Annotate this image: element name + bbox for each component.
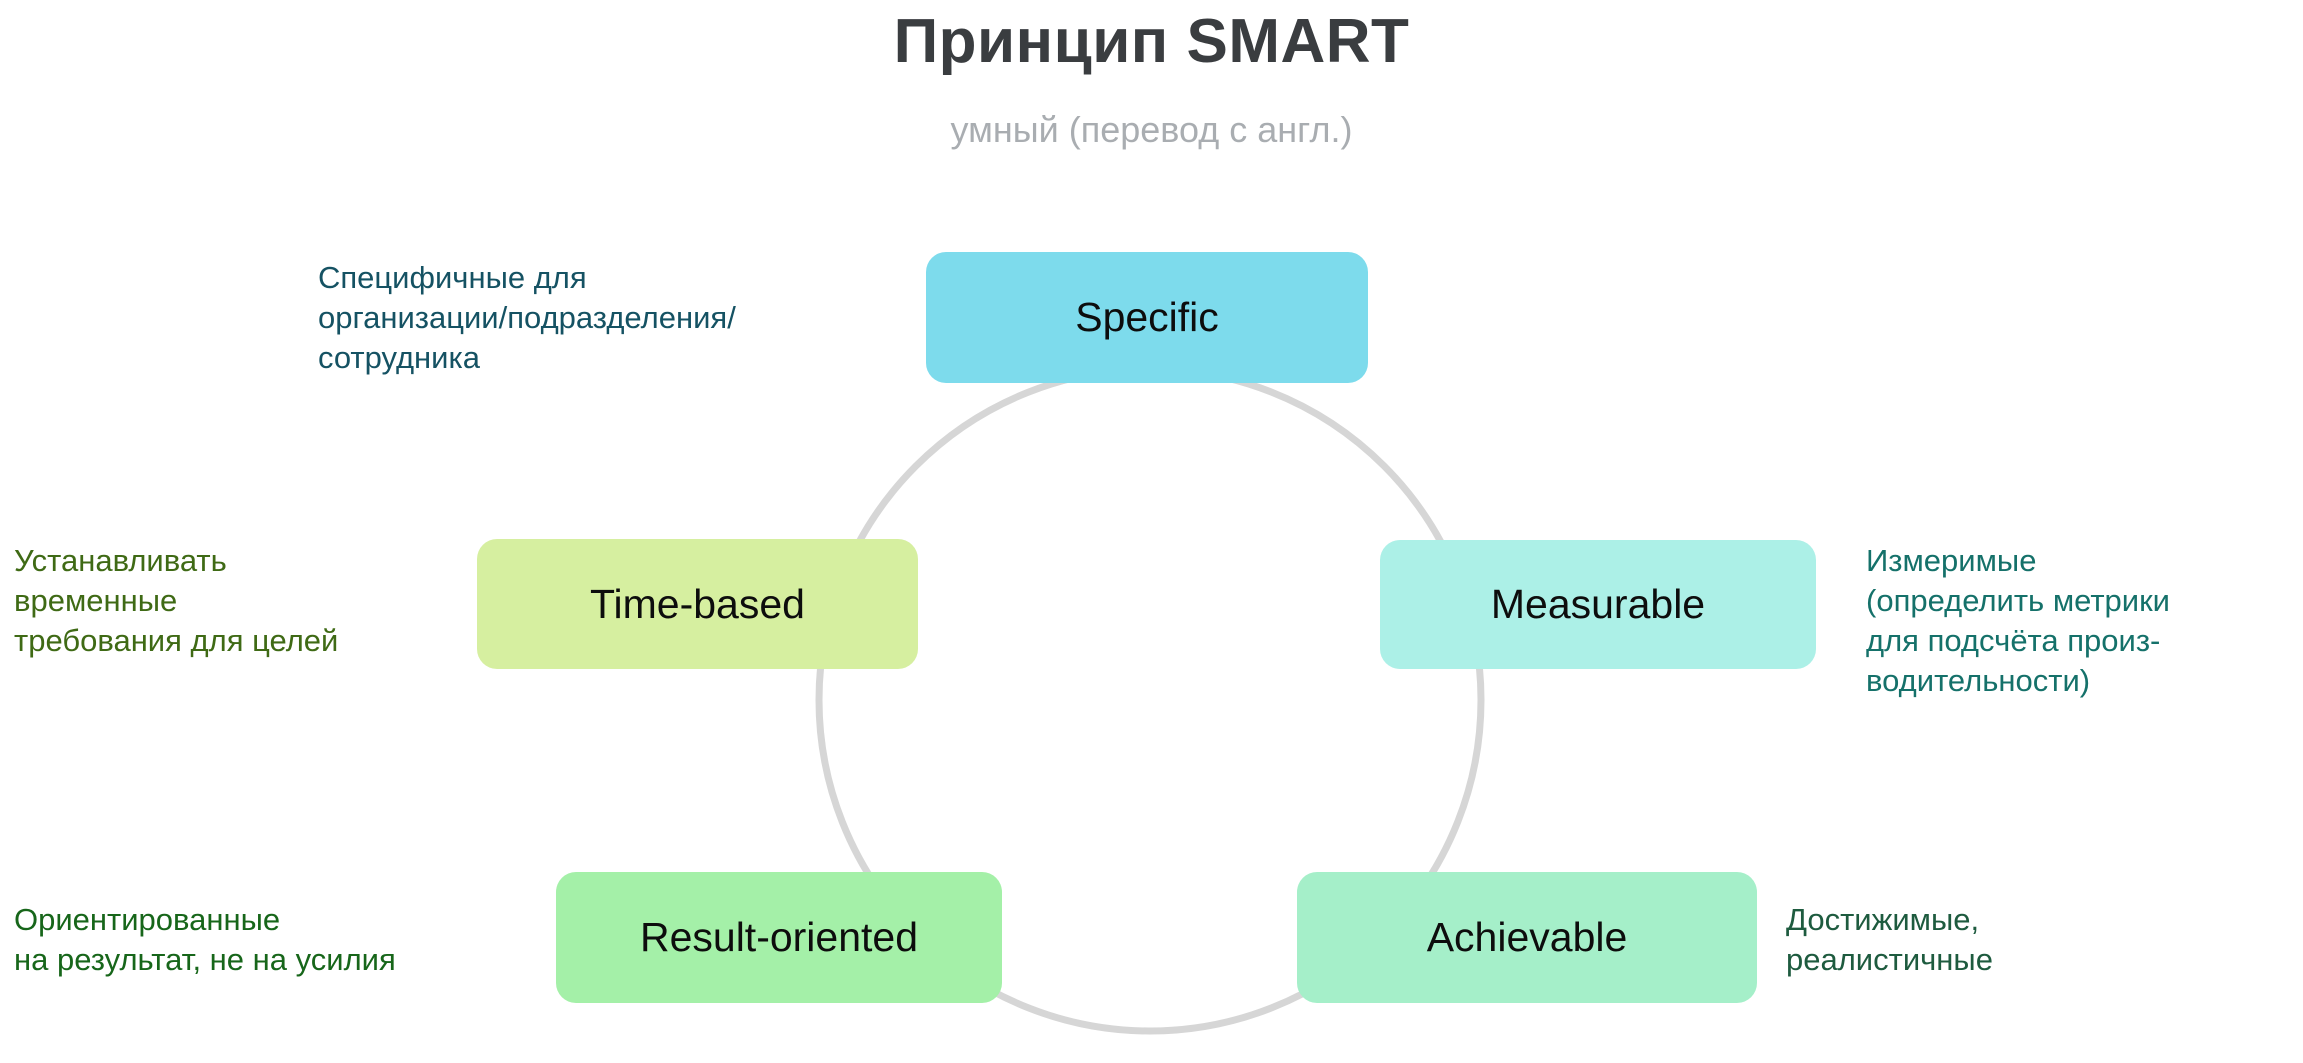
node-achievable-label: Achievable: [1427, 917, 1628, 958]
node-time-based[interactable]: Time-based: [477, 539, 918, 669]
caption-achievable: Достижимые, реалистичные: [1786, 900, 2206, 980]
caption-result-oriented: Ориентированные на результат, не на усил…: [14, 900, 534, 980]
node-result-oriented[interactable]: Result-oriented: [556, 872, 1002, 1003]
node-measurable-label: Measurable: [1491, 584, 1705, 625]
node-specific-label: Specific: [1075, 297, 1219, 338]
node-specific[interactable]: Specific: [926, 252, 1368, 383]
caption-measurable: Измеримые (определить метрики для подсчё…: [1866, 541, 2296, 701]
node-achievable[interactable]: Achievable: [1297, 872, 1757, 1003]
caption-specific: Специфичные для организации/подразделени…: [318, 258, 918, 378]
caption-time-based: Устанавливать временные требования для ц…: [14, 541, 464, 661]
node-result-oriented-label: Result-oriented: [640, 917, 918, 958]
node-measurable[interactable]: Measurable: [1380, 540, 1816, 669]
node-time-based-label: Time-based: [590, 584, 805, 625]
smart-diagram-canvas: Принцип SMART умный (перевод с англ.) Sp…: [0, 0, 2303, 1063]
